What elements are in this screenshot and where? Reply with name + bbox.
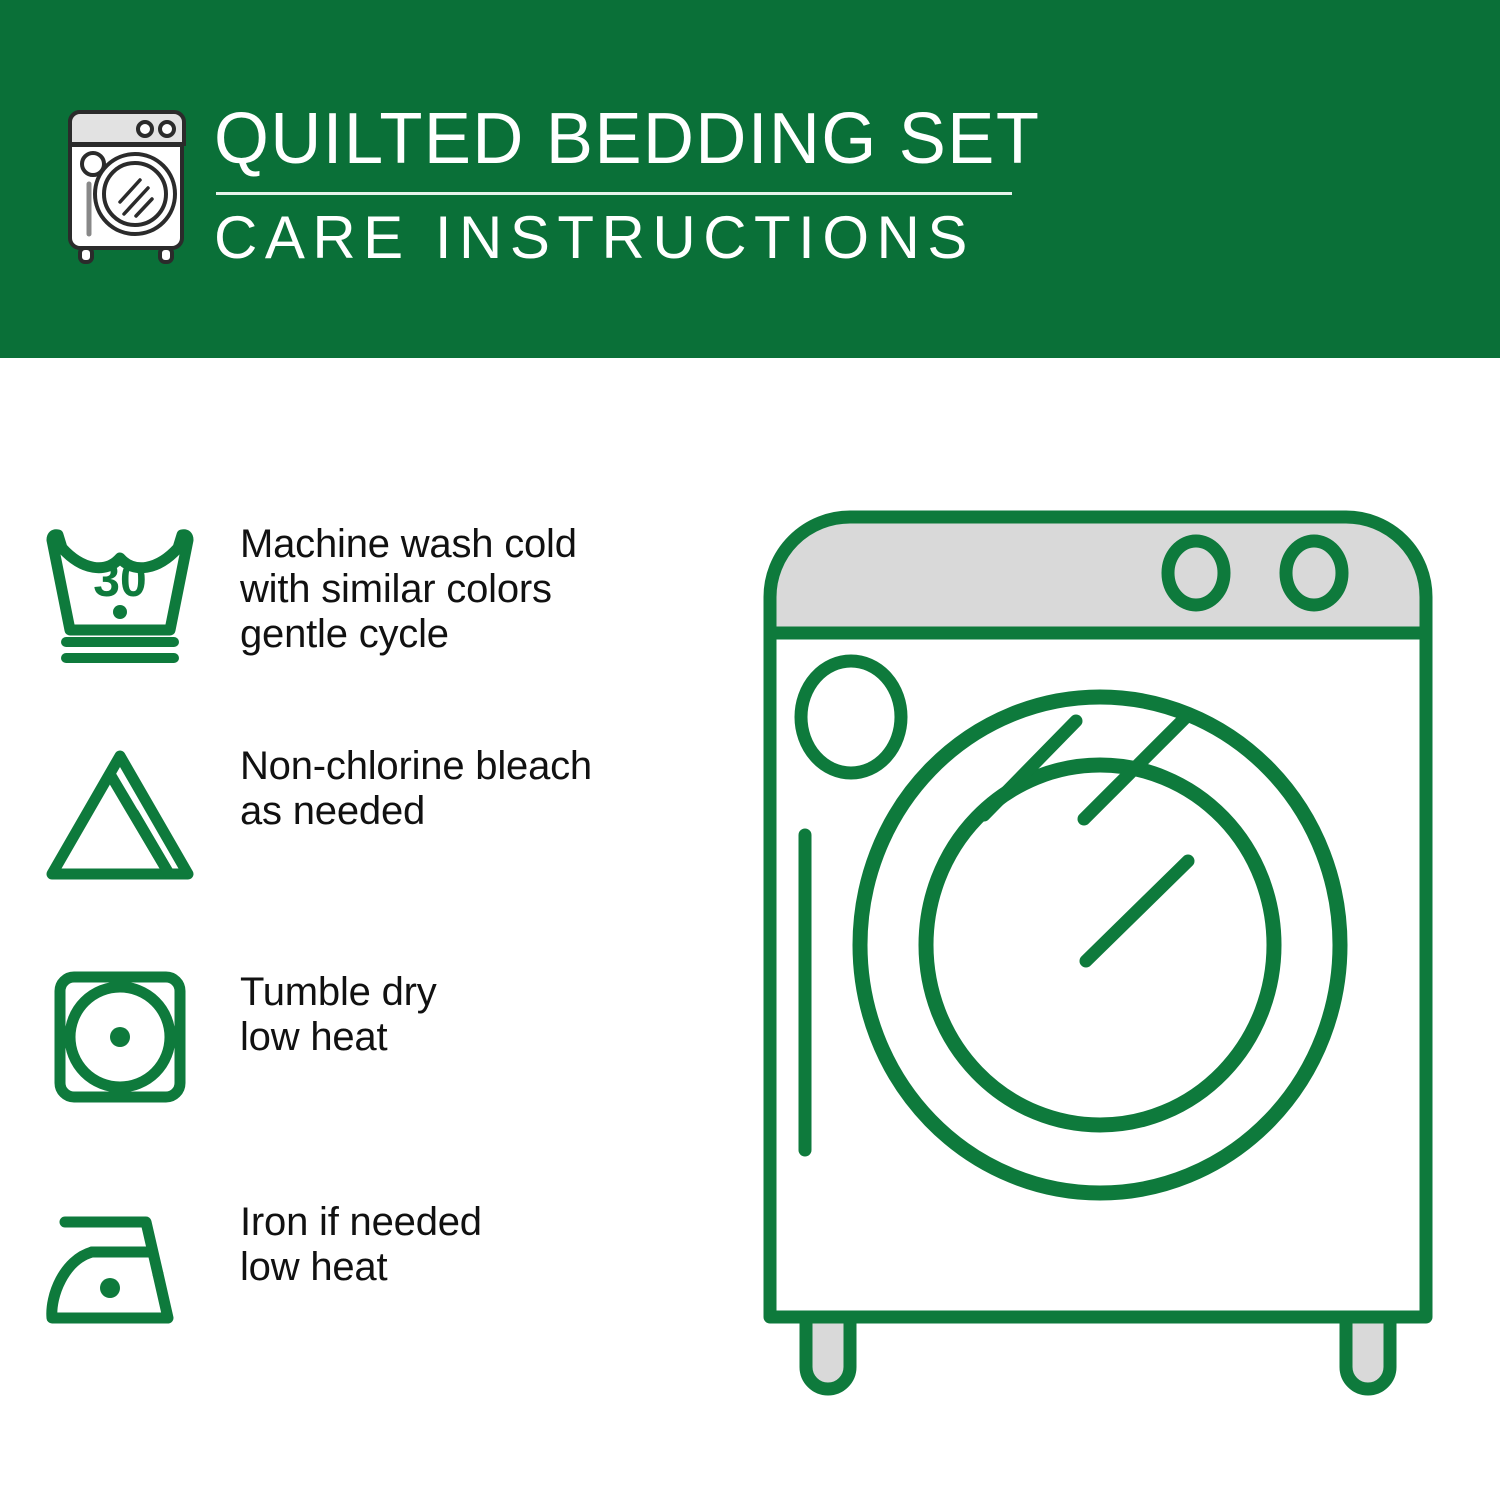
- instruction-list: 30 Machine wash cold with similar colors…: [0, 358, 720, 1500]
- instruction-row-iron: Iron if needed low heat: [0, 1196, 720, 1346]
- header-divider: [216, 192, 1012, 195]
- instruction-row-wash: 30 Machine wash cold with similar colors…: [0, 518, 720, 668]
- leg-right: [1346, 1317, 1390, 1389]
- non-chlorine-bleach-triangle-icon: [0, 740, 240, 890]
- page-title: QUILTED BEDDING SET: [214, 100, 998, 178]
- washing-machine-icon: [62, 104, 192, 264]
- header-text-block: QUILTED BEDDING SET CARE INSTRUCTIONS: [214, 100, 1014, 271]
- tumble-dry-low-heat-icon: [0, 966, 240, 1116]
- instruction-row-bleach: Non-chlorine bleach as needed: [0, 740, 720, 890]
- front-load-washing-machine-illustration: [748, 495, 1448, 1415]
- instruction-text-bleach: Non-chlorine bleach as needed: [240, 740, 720, 834]
- iron-low-heat-icon: [0, 1196, 240, 1346]
- wash-tub-30-gentle-icon: 30: [0, 518, 240, 668]
- page-subtitle: CARE INSTRUCTIONS: [214, 205, 1014, 271]
- control-panel: [770, 517, 1426, 633]
- leg-left: [806, 1317, 850, 1389]
- header-banner: QUILTED BEDDING SET CARE INSTRUCTIONS: [0, 0, 1500, 358]
- detergent-indicator-circle: [801, 661, 901, 773]
- instruction-text-wash: Machine wash cold with similar colors ge…: [240, 518, 720, 657]
- svg-text:30: 30: [93, 554, 146, 607]
- instruction-text-iron: Iron if needed low heat: [240, 1196, 720, 1290]
- instruction-text-dry: Tumble dry low heat: [240, 966, 720, 1060]
- instruction-row-dry: Tumble dry low heat: [0, 966, 720, 1116]
